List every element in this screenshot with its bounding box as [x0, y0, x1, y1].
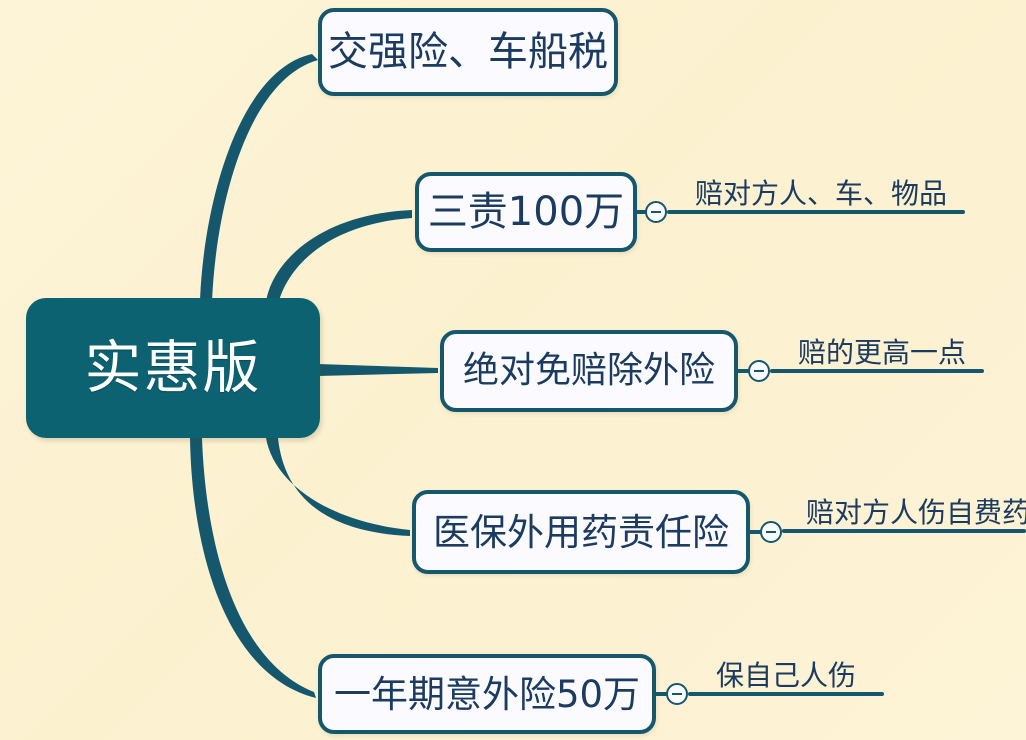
leaf-underline	[688, 692, 884, 696]
collapse-minus-icon-4[interactable]	[666, 683, 688, 705]
topic-node-label: 一年期意外险50万	[334, 676, 640, 713]
minus-glyph	[766, 531, 776, 533]
topic-node-1[interactable]: 三责100万	[415, 172, 637, 252]
collapse-minus-icon-3[interactable]	[760, 521, 782, 543]
minus-glyph	[651, 211, 661, 213]
leaf-node-2[interactable]: 赔的更高一点	[770, 328, 984, 373]
branch-curve-2	[318, 364, 438, 376]
minus-glyph	[754, 370, 764, 372]
collapse-minus-icon-1[interactable]	[645, 201, 667, 223]
branch-curve-0	[200, 54, 318, 302]
topic-node-label: 交强险、车船税	[328, 32, 608, 72]
topic-node-4[interactable]: 一年期意外险50万	[318, 654, 656, 734]
topic-node-0[interactable]: 交强险、车船税	[318, 8, 618, 96]
topic-node-label: 医保外用药责任险	[433, 514, 729, 551]
branch-curve-4	[190, 438, 316, 698]
topic-node-3[interactable]: 医保外用药责任险	[412, 490, 750, 574]
leaf-node-label: 保自己人伤	[716, 662, 856, 690]
branch-curve-3	[266, 438, 410, 536]
leaf-underline	[770, 369, 984, 373]
minus-glyph	[672, 693, 682, 695]
leaf-node-1[interactable]: 赔对方人、车、物品	[667, 168, 965, 214]
topic-node-label: 绝对免赔除外险	[463, 353, 715, 389]
leaf-node-4[interactable]: 保自己人伤	[688, 650, 884, 696]
leaf-underline	[782, 529, 1026, 533]
leaf-node-label: 赔的更高一点	[798, 339, 966, 367]
leaf-node-3[interactable]: 赔对方人伤自费药	[782, 489, 1026, 533]
leaf-node-label: 赔对方人、车、物品	[695, 180, 947, 208]
topic-node-2[interactable]: 绝对免赔除外险	[440, 330, 738, 412]
root-node-label: 实惠版	[85, 340, 262, 397]
leaf-node-label: 赔对方人伤自费药	[806, 499, 1026, 527]
collapse-minus-icon-2[interactable]	[748, 360, 770, 382]
mindmap-canvas: 实惠版 交强险、车船税 三责100万 绝对免赔除外险 医保外用药责任险 一年期意…	[0, 0, 1026, 740]
topic-node-label: 三责100万	[428, 192, 624, 232]
root-node[interactable]: 实惠版	[26, 298, 320, 438]
branch-curve-1	[266, 210, 412, 304]
leaf-underline	[667, 210, 965, 214]
